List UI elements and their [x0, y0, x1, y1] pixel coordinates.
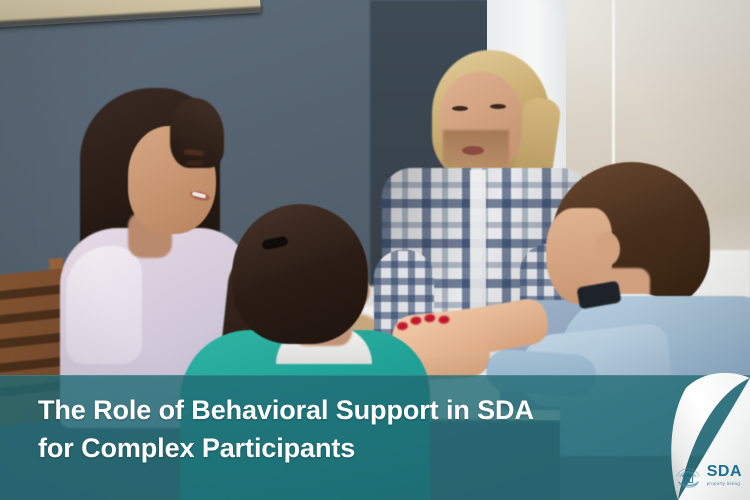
- sda-logo-text: SDA property listing: [707, 464, 742, 486]
- page-title-line-1: The Role of Behavioral Support in SDA: [38, 395, 534, 425]
- person-woman-pink-sleeve: [66, 246, 142, 364]
- person-man-denim-ear: [594, 232, 620, 266]
- title-banner: The Role of Behavioral Support in SDA fo…: [0, 375, 750, 500]
- person-man-plaid-eye-left: [452, 106, 468, 111]
- sda-tagline: property listing: [707, 482, 742, 486]
- person-woman-teal-head: [232, 204, 368, 344]
- featured-image-card: The Role of Behavioral Support in SDA fo…: [0, 0, 750, 500]
- page-title: The Role of Behavioral Support in SDA fo…: [38, 391, 638, 468]
- sda-logo[interactable]: SDA property listing: [673, 460, 742, 490]
- person-man-plaid-eye-right: [490, 104, 506, 109]
- person-man-plaid-mouth: [462, 146, 484, 155]
- house-in-hand-icon: [673, 460, 703, 490]
- person-woman-pink-eye: [186, 160, 204, 166]
- sda-wordmark: SDA: [707, 464, 742, 480]
- page-title-line-2: for Complex Participants: [38, 429, 638, 467]
